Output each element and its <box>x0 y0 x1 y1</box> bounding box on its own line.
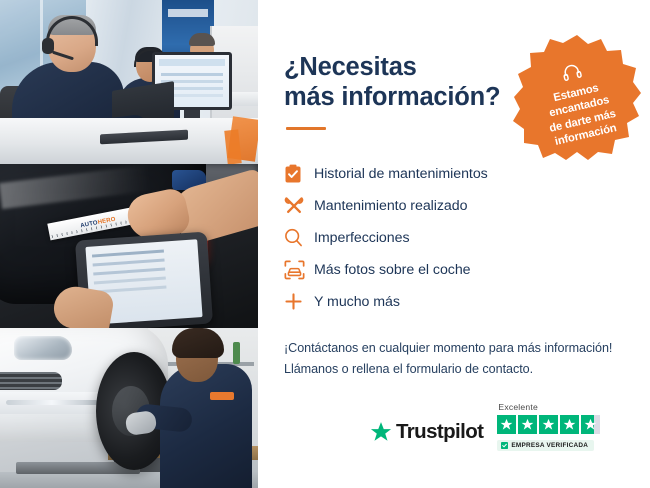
trustpilot-logo[interactable]: Trustpilot <box>370 420 483 451</box>
bumper-chrome-trim <box>6 400 98 405</box>
verified-company-label: EMPRESA VERIFICADA <box>511 442 588 449</box>
trustpilot-stars <box>497 415 600 434</box>
verified-company-badge: EMPRESA VERIFICADA <box>497 440 594 451</box>
verified-check-icon <box>501 442 508 449</box>
trustpilot-rating[interactable]: Trustpilot Excelente <box>370 402 600 451</box>
feature-item-imperfections: Imperfecciones <box>284 222 626 253</box>
trustpilot-wordmark: Trustpilot <box>396 420 483 444</box>
feature-label: Mantenimiento realizado <box>314 198 467 214</box>
car-inspection-ruler-tablet-photo: AUTOHERO <box>0 164 258 328</box>
trustpilot-score-block: Excelente <box>497 402 600 451</box>
mechanic-shirt-logo <box>210 392 234 400</box>
star-filled <box>497 415 516 434</box>
ruler-brand-auto: AUTO <box>80 220 99 229</box>
mechanic-hair <box>172 328 224 358</box>
feature-list: Historial de mantenimientos Mantenimient… <box>284 158 626 317</box>
star-filled <box>518 415 537 434</box>
feature-label: Historial de mantenimientos <box>314 166 488 182</box>
mechanic-wheel-inspection-photo <box>0 328 258 488</box>
info-banner: AUTOHERO <box>0 0 650 488</box>
plus-icon <box>284 292 314 311</box>
feature-item-much-more: Y mucho más <box>284 286 626 317</box>
badge-text: Estamos encantados de darte más informac… <box>524 74 638 153</box>
magnifier-icon <box>284 228 314 247</box>
trustpilot-star-icon <box>370 421 392 443</box>
contact-copy-line-2: Llámanos o rellena el formulario de cont… <box>284 359 626 379</box>
feature-item-maintenance-done: Mantenimiento realizado <box>284 190 626 221</box>
car-grille <box>0 372 62 390</box>
car-scan-icon <box>284 260 314 280</box>
photo-column: AUTOHERO <box>0 0 258 488</box>
content-panel: ¿Necesitas más información? Estamos <box>258 0 650 488</box>
page-title: ¿Necesitas más información? <box>284 52 514 112</box>
trustpilot-rating-label: Excelente <box>498 402 538 412</box>
crossed-tools-icon <box>284 196 314 216</box>
feature-label: Más fotos sobre el coche <box>314 262 471 278</box>
background-agent-hair <box>189 33 215 46</box>
title-underline-accent <box>286 127 326 130</box>
call-center-agents-photo <box>0 0 258 164</box>
star-partial <box>581 415 600 434</box>
feature-item-more-photos: Más fotos sobre el coche <box>284 254 626 285</box>
star-filled <box>560 415 579 434</box>
contact-copy: ¡Contáctanos en cualquier momento para m… <box>284 338 626 379</box>
shelf-bottle <box>233 342 240 364</box>
feature-label: Y mucho más <box>314 294 400 310</box>
support-badge: Estamos encantados de darte más informac… <box>513 33 641 161</box>
car-headlight <box>14 336 72 360</box>
page-title-line-2: más información? <box>284 83 500 111</box>
page-title-line-1: ¿Necesitas <box>284 53 417 81</box>
headset-icon <box>560 62 583 88</box>
star-filled <box>539 415 558 434</box>
ruler-brand-hero: HERO <box>97 216 116 225</box>
feature-label: Imperfecciones <box>314 230 410 246</box>
contact-copy-line-1: ¡Contáctanos en cualquier momento para m… <box>284 338 626 358</box>
clipboard-check-icon <box>284 164 314 184</box>
